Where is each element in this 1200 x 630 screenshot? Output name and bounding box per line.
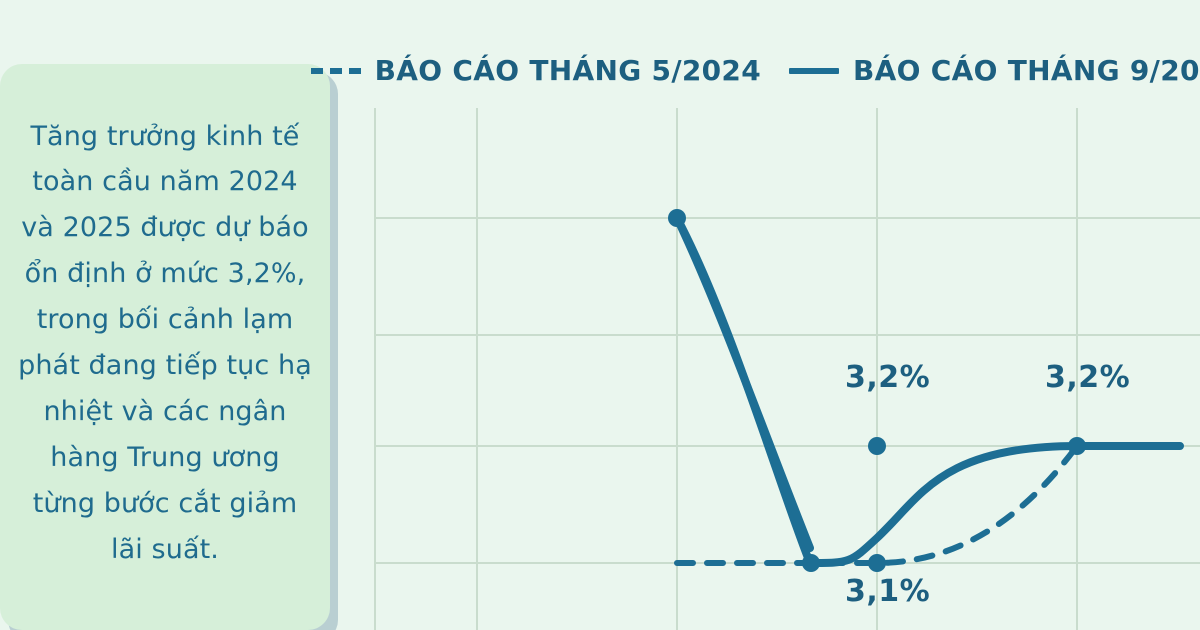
data-point-sep-2024 — [868, 437, 886, 455]
chart-page: Tăng trưởng kinh tế toàn cầu năm 2024 và… — [0, 0, 1200, 630]
value-label-2025: 3,2% — [1045, 360, 1130, 395]
value-label-may-low: 3,1% — [845, 574, 930, 609]
series-line-sep-2024-start — [677, 218, 810, 548]
dashed-line-icon — [311, 68, 361, 74]
caption-text: Tăng trưởng kinh tế toàn cầu năm 2024 và… — [16, 114, 314, 573]
data-point-2023 — [668, 209, 686, 227]
caption-panel: Tăng trưởng kinh tế toàn cầu năm 2024 và… — [0, 64, 330, 630]
legend-label-may: BÁO CÁO THÁNG 5/2024 — [375, 54, 761, 87]
data-point-2025 — [1068, 437, 1086, 455]
legend-item-sep: BÁO CÁO THÁNG 9/2024 — [789, 54, 1200, 87]
chart-legend: BÁO CÁO THÁNG 5/2024 BÁO CÁO THÁNG 9/202… — [350, 54, 1200, 87]
data-point-low — [802, 554, 820, 572]
plot-area: 3,2% 3,2% 3,1% — [350, 108, 1200, 630]
solid-line-icon — [789, 68, 839, 74]
data-point-may-2024 — [868, 554, 886, 572]
chart-container: BÁO CÁO THÁNG 5/2024 BÁO CÁO THÁNG 9/202… — [350, 0, 1200, 630]
value-label-sep-2024: 3,2% — [845, 360, 930, 395]
legend-item-may: BÁO CÁO THÁNG 5/2024 — [311, 54, 761, 87]
legend-label-sep: BÁO CÁO THÁNG 9/2024 — [853, 54, 1200, 87]
